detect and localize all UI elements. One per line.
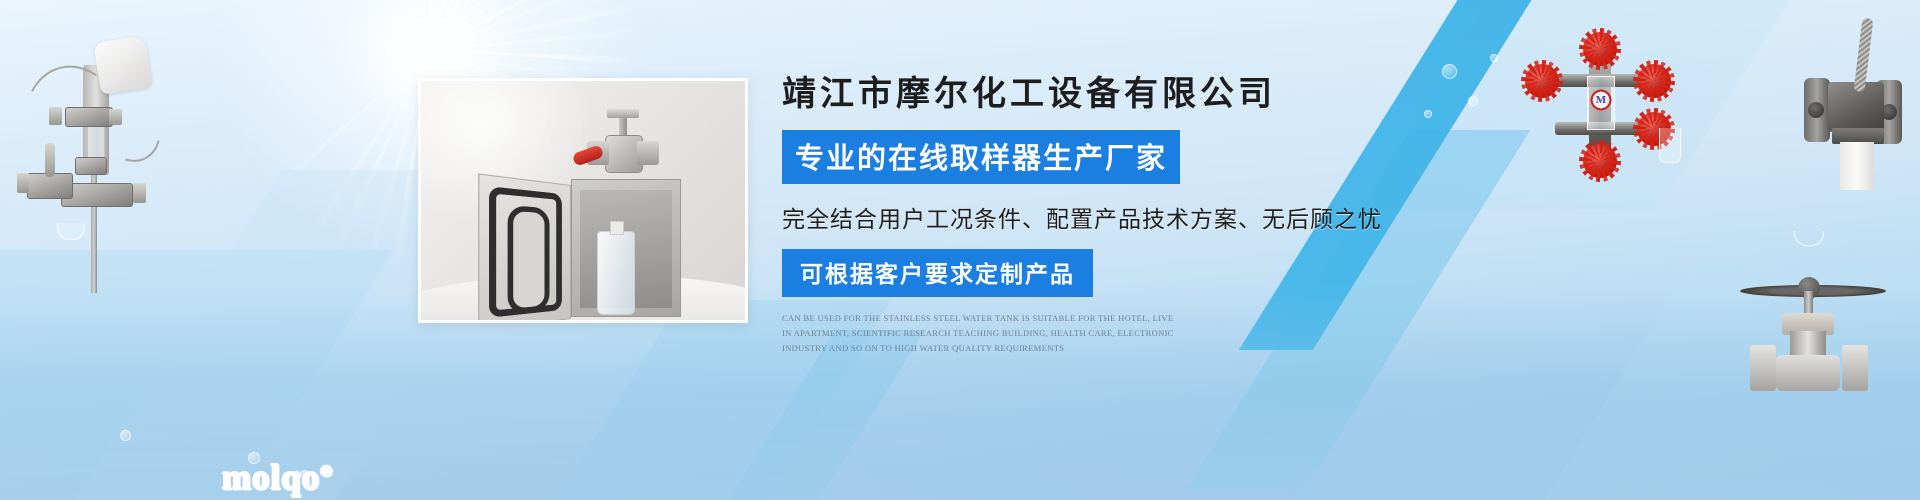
sample-glass bbox=[57, 223, 85, 240]
watermark-text: molqo bbox=[222, 458, 320, 497]
outlet-pipe bbox=[1840, 142, 1874, 190]
flange-right bbox=[1842, 345, 1868, 391]
company-name: 靖江市摩尔化工设备有限公司 bbox=[782, 76, 1402, 113]
watermark-logo: molqo® bbox=[222, 458, 333, 498]
door-window bbox=[508, 205, 550, 315]
valve-cap bbox=[607, 109, 639, 118]
sampling-cabinet-photo bbox=[418, 78, 748, 323]
subline-text: 完全结合用户工况条件、配置产品技术方案、无后顾之忧 bbox=[782, 200, 1402, 234]
flange bbox=[17, 173, 29, 193]
gate-valve-illustration bbox=[1720, 225, 1900, 405]
top-valve-assembly bbox=[589, 111, 655, 187]
cabinet-door bbox=[478, 173, 571, 323]
flange-bore bbox=[1808, 102, 1824, 118]
valve-flange-right bbox=[637, 141, 659, 165]
sample-glass bbox=[1794, 231, 1824, 246]
pole-mounted-sampler-illustration bbox=[5, 25, 185, 295]
flange-left bbox=[1804, 78, 1830, 142]
sample-bottle bbox=[597, 231, 635, 315]
certification-seal-icon: M bbox=[1587, 86, 1615, 114]
flange-left bbox=[1750, 345, 1776, 391]
registered-mark: ® bbox=[320, 463, 333, 480]
marketing-copy: 靖江市摩尔化工设备有限公司 专业的在线取样器生产厂家 完全结合用户工况条件、配置… bbox=[782, 76, 1402, 356]
bubble-icon bbox=[1490, 54, 1498, 62]
bubble-icon bbox=[1468, 96, 1478, 106]
english-description: CAN BE USED FOR THE STAINLESS STEEL WATE… bbox=[782, 311, 1182, 356]
red-handwheel-left bbox=[1525, 64, 1559, 98]
red-handwheel-right bbox=[1637, 64, 1671, 98]
bubble-icon bbox=[1424, 110, 1432, 118]
bubble-icon bbox=[1442, 64, 1457, 79]
cross-valve-assembly-illustration: M bbox=[1525, 40, 1700, 165]
flanged-lever-valve-illustration bbox=[1790, 30, 1920, 190]
flange bbox=[133, 183, 146, 203]
tagline-badge: 专业的在线取样器生产厂家 bbox=[782, 130, 1180, 184]
valve-body bbox=[1776, 355, 1840, 391]
sample-jar bbox=[1659, 128, 1681, 163]
red-handwheel-top bbox=[1583, 32, 1617, 66]
promo-banner: M 靖江市摩尔化工设备有限公司 专业的在线取样器生产厂家 bbox=[0, 0, 1920, 500]
cta-badge[interactable]: 可根据客户要求定制产品 bbox=[782, 249, 1093, 297]
red-handwheel-bottom bbox=[1583, 144, 1617, 178]
seal-mark: M bbox=[1596, 94, 1606, 106]
